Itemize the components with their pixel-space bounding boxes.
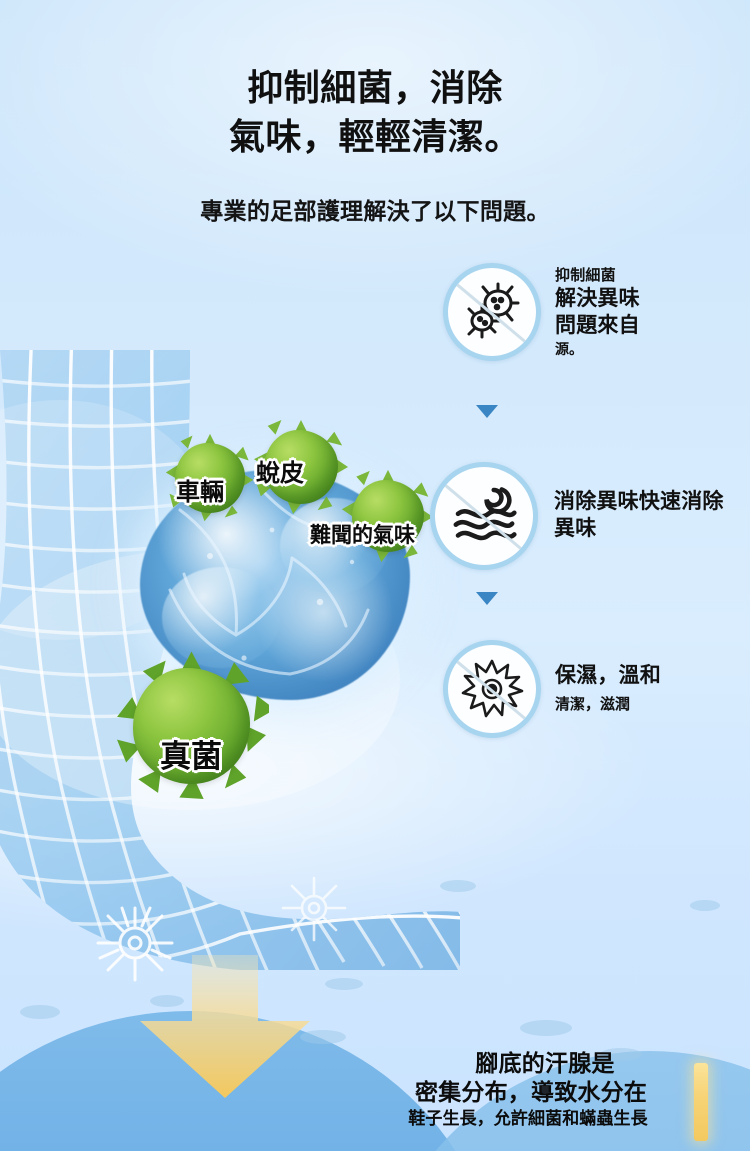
product-infographic-poster: 抑制細菌，消除 氣味，輕輕清潔。 專業的足部護理解決了以下問題。 [0, 0, 750, 1151]
background-speck [20, 1005, 60, 1019]
feature-text-block: 抑制細菌 解決異味 問題來自 源。 [555, 265, 640, 360]
bottom-copy-line-3: 鞋子生長，允許細菌和蟎蟲生長 [346, 1108, 710, 1131]
feature-big-line-1: 消除異味快速消除 [554, 489, 724, 516]
callout-bad-odor: 難聞的氣味 [310, 519, 415, 549]
feature-big-line-2: 問題來自 [555, 313, 640, 340]
feature-item-antibacterial: 抑制細菌 解決異味 問題來自 源。 [443, 263, 640, 361]
feature-text-block: 消除異味快速消除 異味 [554, 489, 724, 543]
feature-icon-circle [430, 462, 538, 570]
bottom-copy-line-1: 腳底的汗腺是 [380, 1049, 710, 1078]
feature-big-line-2: 異味 [554, 516, 724, 543]
feature-tiny-label: 源。 [555, 340, 640, 360]
mesh-wrapped-foot-graphic [0, 350, 460, 970]
feature-small-label: 抑制細菌 [555, 265, 640, 286]
feature-item-deodorize: 消除異味快速消除 異味 [430, 462, 724, 570]
background-speck [150, 995, 184, 1007]
background-speck [440, 880, 476, 892]
feature-text-block: 保濕，溫和 清潔，滋潤 [555, 663, 661, 715]
feature-icon-circle [443, 263, 541, 361]
headline-line-2: 氣味，輕輕清潔。 [0, 113, 750, 162]
background-speck [520, 1020, 572, 1036]
callout-vehicle: 車輛 [176, 472, 224, 507]
ghost-germ-outline [278, 872, 350, 944]
bottom-copy-block: 腳底的汗腺是 密集分布，導致水分在 鞋子生長，允許細菌和蟎蟲生長 [380, 1049, 710, 1131]
ghost-germ-outline [92, 900, 178, 986]
feature-icon-circle [443, 640, 541, 738]
background-speck [690, 900, 720, 911]
virus-blob-bad-odor [340, 468, 436, 564]
virus-blob-fungus [114, 650, 269, 802]
callout-fungus: 真菌 [160, 731, 222, 776]
feature-item-moisturize: 保濕，溫和 清潔，滋潤 [443, 640, 661, 738]
feature-tiny-label: 清潔，滋潤 [555, 694, 661, 715]
background-speck [325, 978, 363, 990]
feature-big-line-1: 保濕，溫和 [555, 663, 661, 690]
page-headline: 抑制細菌，消除 氣味，輕輕清潔。 [0, 64, 750, 161]
headline-line-1: 抑制細菌，消除 [0, 64, 750, 113]
background-speck [300, 1030, 346, 1044]
flow-connector-arrow [476, 405, 498, 418]
page-subheadline: 專業的足部護理解決了以下問題。 [0, 192, 750, 226]
flow-connector-arrow [476, 592, 498, 605]
bottom-copy-line-2: 密集分布，導致水分在 [352, 1078, 710, 1107]
feature-big-line-1: 解決異味 [555, 286, 640, 313]
yellow-down-arrow [130, 955, 320, 1100]
callout-peeling-skin: 蛻皮 [256, 453, 304, 488]
